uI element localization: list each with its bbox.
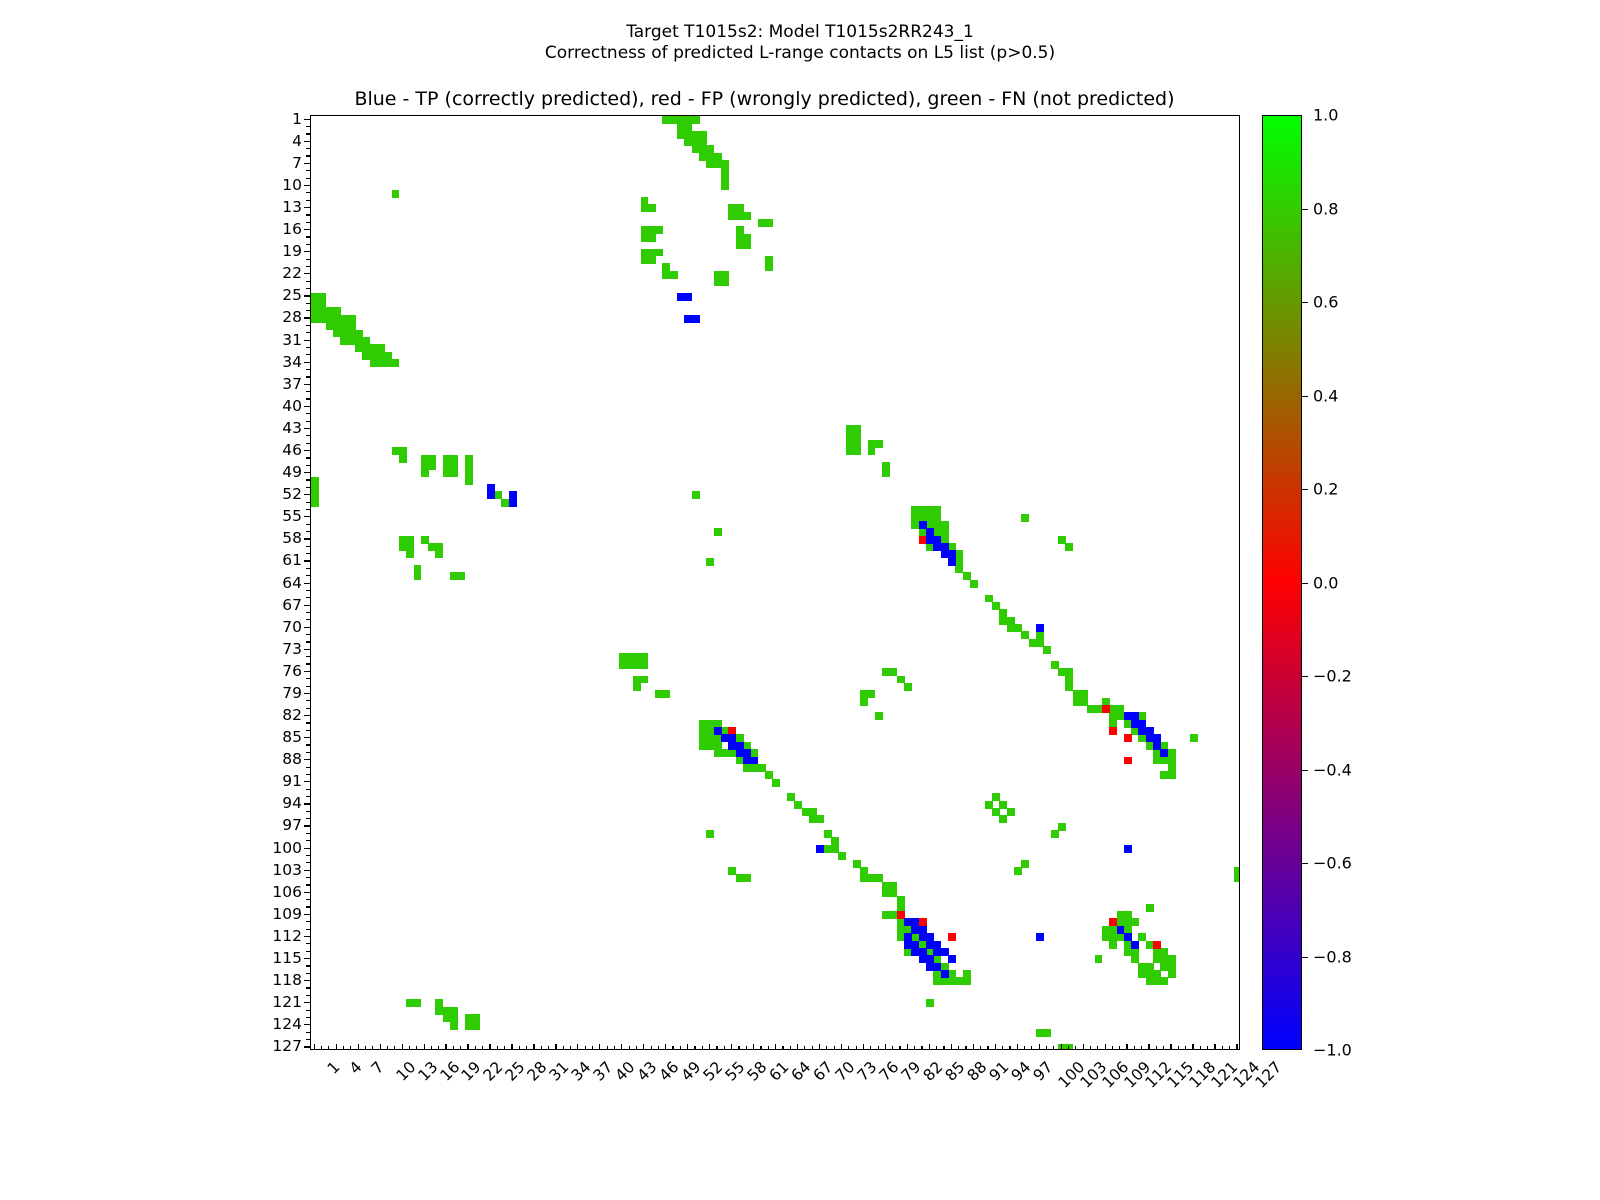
y-tick-label: 76: [282, 662, 302, 680]
y-tick-label: 28: [282, 308, 302, 326]
colorbar-tick-label: 0.4: [1313, 386, 1338, 405]
y-tick: [306, 678, 310, 679]
x-tick: [651, 1046, 652, 1050]
x-tick: [336, 1044, 337, 1050]
contact-cell-fn: [450, 1022, 458, 1030]
x-tick: [343, 1046, 344, 1050]
contact-cell-fn: [1146, 904, 1154, 912]
contact-cell-fn: [399, 455, 407, 463]
y-tick-label: 37: [282, 375, 302, 393]
x-tick: [1119, 1046, 1120, 1050]
x-tick: [878, 1046, 879, 1050]
x-tick: [394, 1046, 395, 1050]
contact-cell-fn: [1168, 970, 1176, 978]
y-tick: [306, 995, 310, 996]
x-tick: [724, 1046, 725, 1050]
contact-cell-fn: [868, 447, 876, 455]
y-tick: [306, 178, 310, 179]
figure-root: Target T1015s2: Model T1015s2RR243_1 Cor…: [0, 0, 1600, 1200]
contact-cell-fn: [765, 219, 773, 227]
x-tick: [1141, 1046, 1142, 1050]
x-tick: [643, 1044, 644, 1050]
x-tick: [387, 1046, 388, 1050]
x-tick: [848, 1046, 849, 1050]
x-tick: [1097, 1046, 1098, 1050]
y-tick: [306, 310, 310, 311]
x-tick: [856, 1046, 857, 1050]
y-tick: [304, 693, 310, 694]
y-tick-label: 79: [282, 684, 302, 702]
y-tick: [304, 1024, 310, 1025]
y-tick-label: 94: [282, 794, 302, 812]
y-tick: [306, 288, 310, 289]
x-tick: [424, 1044, 425, 1050]
colorbar-tick: [1302, 957, 1308, 958]
y-tick: [306, 148, 310, 149]
x-tick: [1105, 1044, 1106, 1050]
x-tick: [541, 1046, 542, 1050]
y-tick: [306, 509, 310, 510]
contact-cell-tp: [816, 845, 824, 853]
x-tick: [350, 1046, 351, 1050]
x-tick: [804, 1046, 805, 1050]
y-tick-label: 73: [282, 640, 302, 658]
x-tick: [1009, 1046, 1010, 1050]
x-tick: [416, 1046, 417, 1050]
contact-cell-tp: [509, 499, 517, 507]
y-tick-label: 100: [272, 839, 302, 857]
contact-cell-fp: [1102, 705, 1110, 713]
contact-cell-fn: [838, 852, 846, 860]
x-tick: [768, 1046, 769, 1050]
x-tick: [965, 1046, 966, 1050]
contact-cell-fn: [1021, 860, 1029, 868]
x-tick: [372, 1046, 373, 1050]
y-tick-label: 64: [282, 574, 302, 592]
x-tick: [943, 1046, 944, 1050]
y-tick: [306, 708, 310, 709]
contact-cell-fn: [472, 1022, 480, 1030]
x-tick: [475, 1046, 476, 1050]
contact-cell-tp: [1036, 624, 1044, 632]
x-tick: [863, 1044, 864, 1050]
x-tick: [812, 1046, 813, 1050]
y-tick: [304, 384, 310, 385]
x-tick: [951, 1044, 952, 1050]
y-tick: [306, 376, 310, 377]
y-tick-label: 82: [282, 706, 302, 724]
y-tick-label: 10: [282, 176, 302, 194]
x-tick: [599, 1044, 600, 1050]
x-tick: [555, 1044, 556, 1050]
y-tick: [306, 965, 310, 966]
y-tick: [306, 590, 310, 591]
y-tick: [306, 531, 310, 532]
y-tick: [306, 833, 310, 834]
y-tick-label: 85: [282, 728, 302, 746]
x-tick: [694, 1046, 695, 1050]
x-tick: [636, 1046, 637, 1050]
colorbar-tick: [1302, 583, 1308, 584]
y-tick: [306, 325, 310, 326]
contact-cell-fn: [714, 528, 722, 536]
contact-cell-fp: [1153, 941, 1161, 949]
y-tick: [306, 546, 310, 547]
contact-cell-fn: [875, 712, 883, 720]
contact-cell-fn: [1160, 977, 1168, 985]
contact-cell-fn: [662, 690, 670, 698]
y-tick: [306, 767, 310, 768]
contact-map-plot[interactable]: [310, 115, 1240, 1050]
contact-cell-fn: [1095, 955, 1103, 963]
contact-cell-fn: [1014, 867, 1022, 875]
x-tick: [629, 1046, 630, 1050]
y-tick: [304, 649, 310, 650]
x-tick: [746, 1046, 747, 1050]
y-tick-label: 16: [282, 220, 302, 238]
x-tick: [1024, 1046, 1025, 1050]
x-tick: [702, 1046, 703, 1050]
x-tick: [621, 1044, 622, 1050]
x-tick: [1163, 1046, 1164, 1050]
y-tick: [304, 119, 310, 120]
y-tick: [306, 192, 310, 193]
contact-cell-fn: [1043, 1029, 1051, 1037]
x-tick: [321, 1046, 322, 1050]
x-tick: [914, 1046, 915, 1050]
contact-cell-tp: [1131, 941, 1139, 949]
y-tick: [306, 722, 310, 723]
x-tick: [1031, 1046, 1032, 1050]
y-tick: [304, 583, 310, 584]
x-tick-label: 1: [324, 1058, 344, 1078]
contact-cell-fp: [1124, 757, 1132, 765]
contact-cell-fn: [648, 204, 656, 212]
y-tick: [306, 641, 310, 642]
y-tick: [306, 575, 310, 576]
y-tick-label: 7: [292, 154, 302, 172]
y-tick: [306, 862, 310, 863]
y-tick: [306, 421, 310, 422]
x-tick: [1002, 1046, 1003, 1050]
y-tick: [306, 973, 310, 974]
colorbar-tick-label: 0.8: [1313, 199, 1338, 218]
x-tick: [519, 1046, 520, 1050]
x-tick: [548, 1046, 549, 1050]
y-tick-label: 40: [282, 397, 302, 415]
y-tick: [306, 487, 310, 488]
x-tick: [365, 1046, 366, 1050]
contact-cell-fn: [450, 469, 458, 477]
y-tick: [304, 781, 310, 782]
y-tick: [304, 163, 310, 164]
y-tick-label: 112: [272, 927, 302, 945]
x-tick: [1061, 1044, 1062, 1050]
contact-cell-fn: [641, 676, 649, 684]
x-tick-label: 127: [1252, 1058, 1286, 1092]
contact-cell-fn: [765, 263, 773, 271]
x-tick: [716, 1046, 717, 1050]
x-tick: [834, 1046, 835, 1050]
contact-cell-fn: [655, 249, 663, 257]
y-tick: [306, 789, 310, 790]
y-tick: [306, 391, 310, 392]
y-tick-label: 61: [282, 551, 302, 569]
x-tick: [995, 1044, 996, 1050]
contact-cell-fn: [457, 572, 465, 580]
x-tick: [687, 1044, 688, 1050]
x-tick: [1178, 1046, 1179, 1050]
y-tick: [306, 502, 310, 503]
y-tick: [304, 428, 310, 429]
y-tick: [306, 612, 310, 613]
y-tick: [304, 406, 310, 407]
x-tick: [1236, 1044, 1237, 1050]
contact-cell-fn: [743, 241, 751, 249]
contact-cell-fn: [1234, 874, 1240, 882]
x-tick: [1017, 1044, 1018, 1050]
y-tick: [306, 435, 310, 436]
y-tick-label: 43: [282, 419, 302, 437]
y-tick: [304, 914, 310, 915]
x-tick: [797, 1044, 798, 1050]
contact-cell-fn: [392, 190, 400, 198]
x-tick: [1214, 1044, 1215, 1050]
y-tick: [306, 413, 310, 414]
y-tick: [304, 317, 310, 318]
x-tick: [460, 1046, 461, 1050]
y-tick: [304, 737, 310, 738]
x-tick: [526, 1046, 527, 1050]
x-tick: [680, 1046, 681, 1050]
y-tick: [306, 929, 310, 930]
colorbar-tick-label: 0.6: [1313, 293, 1338, 312]
y-tick: [304, 936, 310, 937]
x-tick: [738, 1046, 739, 1050]
x-tick: [1200, 1046, 1201, 1050]
x-tick: [672, 1046, 673, 1050]
y-tick: [306, 951, 310, 952]
contact-cell-fn: [1065, 543, 1073, 551]
y-tick-label: 13: [282, 198, 302, 216]
contact-cell-tp: [684, 293, 692, 301]
y-tick-label: 34: [282, 353, 302, 371]
x-tick: [489, 1044, 490, 1050]
x-tick: [1090, 1046, 1091, 1050]
x-tick: [563, 1046, 564, 1050]
y-tick: [306, 133, 310, 134]
y-tick-label: 88: [282, 750, 302, 768]
contact-cell-fp: [1109, 727, 1117, 735]
y-tick: [304, 251, 310, 252]
x-tick: [592, 1046, 593, 1050]
y-tick: [304, 958, 310, 959]
y-tick: [306, 1032, 310, 1033]
y-tick: [306, 222, 310, 223]
x-tick: [790, 1046, 791, 1050]
x-tick: [380, 1044, 381, 1050]
y-tick: [306, 730, 310, 731]
contact-cell-fn: [772, 779, 780, 787]
y-tick: [304, 273, 310, 274]
x-tick: [467, 1044, 468, 1050]
y-tick-label: 121: [272, 993, 302, 1011]
x-tick: [936, 1046, 937, 1050]
y-tick: [306, 877, 310, 878]
y-tick: [306, 369, 310, 370]
axes-title: Blue - TP (correctly predicted), red - F…: [0, 88, 1529, 110]
y-tick-label: 97: [282, 816, 302, 834]
y-tick: [304, 870, 310, 871]
contact-cell-fn: [1168, 771, 1176, 779]
x-tick: [1207, 1046, 1208, 1050]
contact-cell-fn: [926, 999, 934, 1007]
y-tick: [304, 450, 310, 451]
y-tick-label: 124: [272, 1015, 302, 1033]
x-tick: [826, 1046, 827, 1050]
colorbar-tick-label: −1.0: [1313, 1041, 1352, 1060]
y-tick: [306, 943, 310, 944]
x-tick: [1068, 1046, 1069, 1050]
y-tick: [306, 259, 310, 260]
x-tick: [1083, 1044, 1084, 1050]
contact-cell-fn: [860, 698, 868, 706]
contact-cell-fn: [1051, 830, 1059, 838]
contact-cell-fn: [392, 359, 400, 367]
x-tick: [533, 1044, 534, 1050]
x-tick: [870, 1046, 871, 1050]
x-tick: [511, 1044, 512, 1050]
y-tick: [306, 354, 310, 355]
x-tick-label: 4: [346, 1058, 366, 1078]
y-tick-label: 58: [282, 529, 302, 547]
x-tick: [921, 1046, 922, 1050]
contact-cell-fn: [311, 499, 319, 507]
x-tick: [328, 1046, 329, 1050]
x-tick: [665, 1044, 666, 1050]
x-tick: [841, 1044, 842, 1050]
x-tick: [1075, 1046, 1076, 1050]
y-tick: [304, 825, 310, 826]
contact-cell-fn: [414, 572, 422, 580]
y-tick-label: 49: [282, 463, 302, 481]
y-tick: [304, 229, 310, 230]
y-tick: [306, 332, 310, 333]
y-tick: [304, 848, 310, 849]
contact-cell-fp: [948, 933, 956, 941]
y-tick: [306, 244, 310, 245]
y-tick-label: 22: [282, 264, 302, 282]
contact-cell-fn: [999, 815, 1007, 823]
y-tick: [306, 155, 310, 156]
y-tick-label: 46: [282, 441, 302, 459]
y-tick-label: 118: [272, 971, 302, 989]
contact-cell-fp: [1124, 734, 1132, 742]
contact-cell-fn: [721, 278, 729, 286]
y-tick: [306, 1010, 310, 1011]
x-tick: [709, 1044, 710, 1050]
colorbar-tick: [1302, 209, 1308, 210]
contact-cell-fn: [414, 999, 422, 1007]
contact-cell-fn: [868, 690, 876, 698]
x-tick: [445, 1044, 446, 1050]
y-tick: [306, 524, 310, 525]
x-tick: [607, 1046, 608, 1050]
contact-cell-fn: [670, 271, 678, 279]
y-tick: [304, 362, 310, 363]
contact-cell-fn: [421, 469, 429, 477]
y-tick: [306, 906, 310, 907]
x-tick: [614, 1046, 615, 1050]
contact-cell-fn: [706, 830, 714, 838]
x-tick: [1126, 1044, 1127, 1050]
y-tick: [306, 398, 310, 399]
y-tick: [304, 185, 310, 186]
contact-cell-tp: [750, 757, 758, 765]
contact-cell-fn: [692, 491, 700, 499]
x-tick: [570, 1046, 571, 1050]
contact-cell-fn: [904, 683, 912, 691]
y-tick-label: 55: [282, 507, 302, 525]
y-tick: [306, 479, 310, 480]
x-tick: [753, 1044, 754, 1050]
x-tick: [885, 1044, 886, 1050]
y-tick-label: 70: [282, 618, 302, 636]
contact-cell-fn: [428, 462, 436, 470]
contact-cell-fn: [692, 116, 700, 124]
colorbar-tick-label: −0.2: [1313, 667, 1352, 686]
colorbar-tick: [1302, 489, 1308, 490]
contact-cell-fn: [435, 550, 443, 558]
y-tick: [304, 538, 310, 539]
colorbar-tick: [1302, 676, 1308, 677]
contact-cell-tp: [1124, 845, 1132, 853]
x-tick: [1185, 1046, 1186, 1050]
x-tick: [973, 1044, 974, 1050]
y-tick: [306, 281, 310, 282]
y-tick: [306, 303, 310, 304]
y-tick: [304, 141, 310, 142]
y-tick: [306, 443, 310, 444]
y-tick: [306, 266, 310, 267]
x-tick-label: 97: [1029, 1058, 1056, 1085]
contact-cell-fn: [406, 550, 414, 558]
y-tick: [306, 597, 310, 598]
contact-cell-fn: [655, 226, 663, 234]
contact-cell-fn: [743, 212, 751, 220]
y-tick: [306, 818, 310, 819]
y-tick: [306, 656, 310, 657]
x-tick: [980, 1046, 981, 1050]
y-tick: [304, 605, 310, 606]
x-tick: [775, 1044, 776, 1050]
x-tick: [585, 1046, 586, 1050]
y-tick: [306, 700, 310, 701]
contact-cell-fn: [641, 661, 649, 669]
contact-cells-layer: [311, 116, 1239, 1049]
y-tick: [304, 671, 310, 672]
y-tick: [304, 1046, 310, 1047]
y-tick-label: 1: [292, 110, 302, 128]
x-tick: [438, 1046, 439, 1050]
contact-cell-fn: [706, 558, 714, 566]
y-tick: [306, 1017, 310, 1018]
y-tick: [304, 715, 310, 716]
y-tick: [304, 803, 310, 804]
y-tick-label: 19: [282, 242, 302, 260]
y-tick: [306, 987, 310, 988]
contact-cell-fn: [1007, 808, 1015, 816]
